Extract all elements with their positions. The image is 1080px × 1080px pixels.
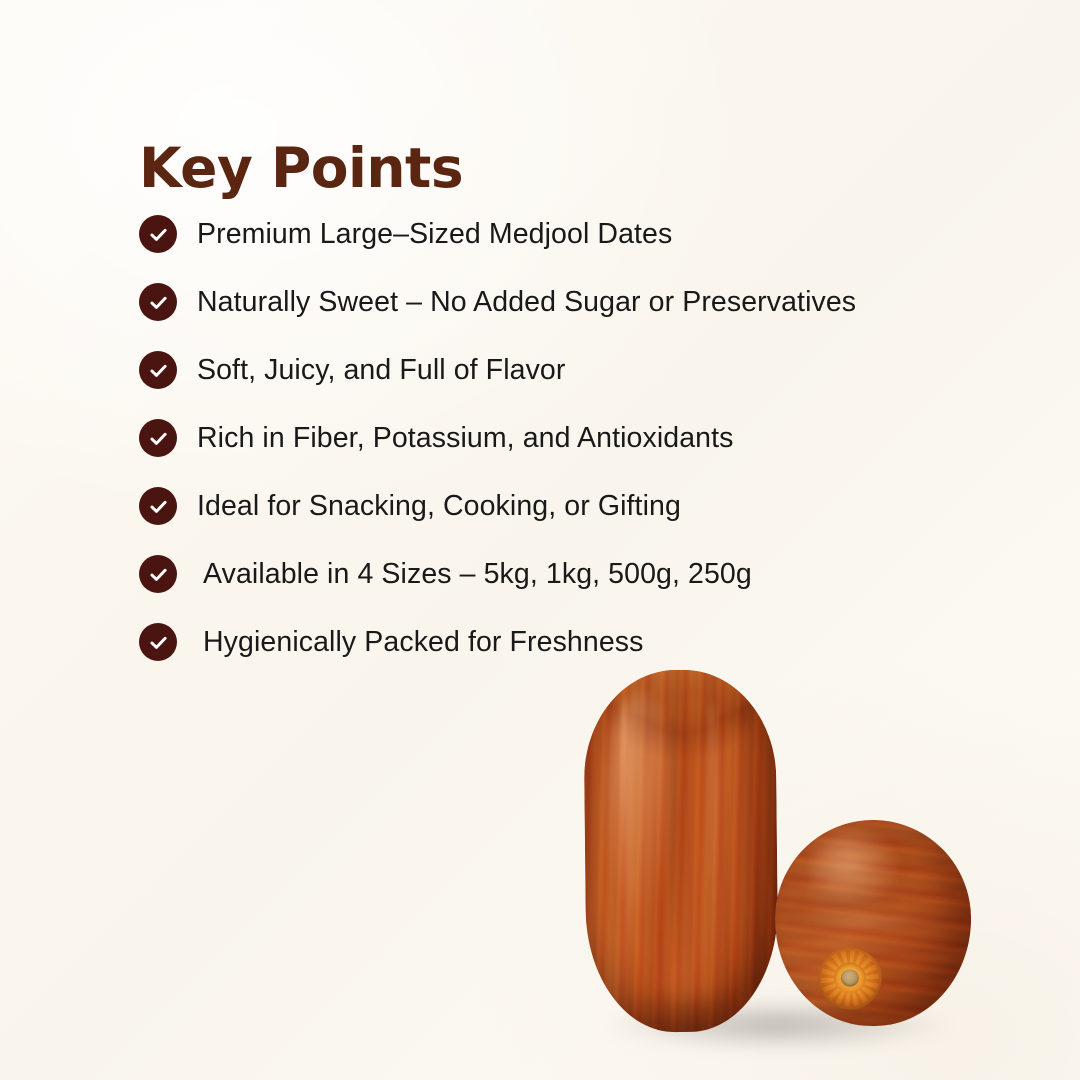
key-point-label: Premium Large–Sized Medjool Dates bbox=[197, 218, 672, 251]
key-point-label: Ideal for Snacking, Cooking, or Gifting bbox=[197, 490, 681, 523]
page-title: Key Points bbox=[139, 140, 463, 198]
check-circle-icon bbox=[139, 623, 177, 661]
large-upright-date bbox=[583, 669, 779, 1033]
key-point-ideal-for-snacking: Ideal for Snacking, Cooking, or Gifting bbox=[139, 472, 979, 540]
key-points-poster: Key Points Premium Large–Sized Medjool D… bbox=[0, 0, 1080, 1080]
small-round-date bbox=[773, 818, 973, 1028]
check-circle-icon bbox=[139, 283, 177, 321]
check-circle-icon bbox=[139, 487, 177, 525]
large-date-base-shading bbox=[586, 959, 779, 1033]
key-point-available-in-4-sizes: Available in 4 Sizes – 5kg, 1kg, 500g, 2… bbox=[139, 540, 979, 608]
check-circle-icon bbox=[139, 351, 177, 389]
key-point-label: Soft, Juicy, and Full of Flavor bbox=[197, 354, 565, 387]
check-circle-icon bbox=[139, 555, 177, 593]
key-point-rich-in-fiber: Rich in Fiber, Potassium, and Antioxidan… bbox=[139, 404, 979, 472]
key-point-premium-large-sized: Premium Large–Sized Medjool Dates bbox=[139, 200, 979, 268]
check-circle-icon bbox=[139, 215, 177, 253]
date-calyx-icon bbox=[817, 947, 882, 1010]
key-point-soft-juicy: Soft, Juicy, and Full of Flavor bbox=[139, 336, 979, 404]
key-point-label: Rich in Fiber, Potassium, and Antioxidan… bbox=[197, 422, 733, 455]
medjool-dates-photo bbox=[540, 640, 1010, 1080]
calyx-core bbox=[841, 969, 859, 987]
key-points-list: Premium Large–Sized Medjool DatesNatural… bbox=[139, 200, 979, 676]
key-point-label: Available in 4 Sizes – 5kg, 1kg, 500g, 2… bbox=[203, 558, 752, 591]
key-point-naturally-sweet: Naturally Sweet – No Added Sugar or Pres… bbox=[139, 268, 979, 336]
check-circle-icon bbox=[139, 419, 177, 457]
key-point-label: Naturally Sweet – No Added Sugar or Pres… bbox=[197, 286, 856, 319]
